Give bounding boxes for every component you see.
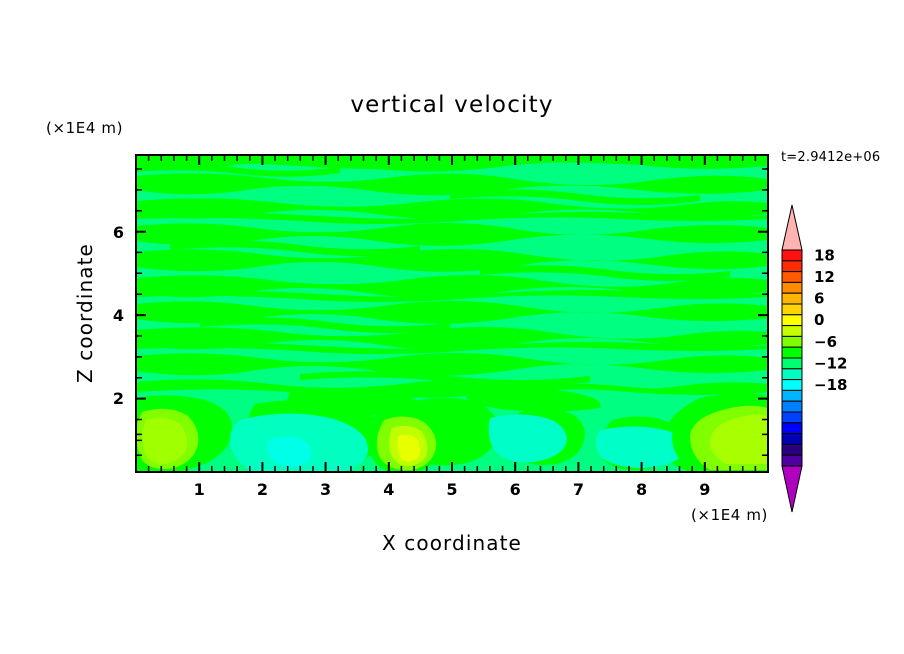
colorbar-band <box>782 401 802 412</box>
colorbar-tick-label: 6 <box>814 290 824 308</box>
colorbar-tick-label: 0 <box>814 311 824 329</box>
contour-field <box>130 155 768 474</box>
colorbar-band <box>782 261 802 272</box>
colorbar-band <box>782 250 802 261</box>
colorbar-tick-label: −6 <box>814 333 837 351</box>
x-tick-label: 9 <box>699 480 710 499</box>
warm-core-center <box>366 409 442 474</box>
colorbar-band <box>782 390 802 401</box>
colorbar-band <box>782 336 802 347</box>
x-tick-label: 8 <box>636 480 647 499</box>
x-tick-label: 2 <box>257 480 268 499</box>
figure-title: vertical velocity <box>350 92 553 118</box>
colorbar-tick-label: 18 <box>814 246 835 264</box>
time-annotation: t=2.9412e+06 <box>781 150 880 165</box>
colorbar-band <box>782 347 802 358</box>
colorbar-band <box>782 315 802 326</box>
x-tick-label: 1 <box>194 480 205 499</box>
colorbar-bands <box>782 250 802 466</box>
x-axis-title: X coordinate <box>382 531 522 555</box>
x-axis-unit-label: (×1E4 m) <box>691 506 768 524</box>
x-tick-label: 5 <box>446 480 457 499</box>
colorbar-band <box>782 369 802 380</box>
colorbar-band <box>782 444 802 455</box>
colorbar-band <box>782 423 802 434</box>
vertical-velocity-contour-figure: vertical velocity (×1E4 m) <box>0 0 904 654</box>
colorbar-band <box>782 434 802 445</box>
colorbar-band <box>782 455 802 466</box>
colorbar-band <box>782 358 802 369</box>
colorbar-tick-label: −12 <box>814 354 847 372</box>
warm-plume-left <box>130 401 211 474</box>
colorbar-band <box>782 326 802 337</box>
x-tick-label: 4 <box>383 480 394 499</box>
x-tick-label: 7 <box>573 480 584 499</box>
colorbar-band <box>782 272 802 283</box>
colorbar-band <box>782 293 802 304</box>
y-axis-unit-label: (×1E4 m) <box>46 119 123 137</box>
y-tick-label: 6 <box>113 223 124 242</box>
y-tick-label: 4 <box>113 306 124 325</box>
y-axis-title: Z coordinate <box>73 243 97 383</box>
colorbar-tick-label: 12 <box>814 268 835 286</box>
x-tick-label: 3 <box>320 480 331 499</box>
y-tick-label: 2 <box>113 389 124 408</box>
colorbar-tick-label: −18 <box>814 376 847 394</box>
colorbar-band <box>782 304 802 315</box>
colorbar-band <box>782 380 802 391</box>
x-tick-label: 6 <box>510 480 521 499</box>
colorbar-band <box>782 282 802 293</box>
colorbar-band <box>782 412 802 423</box>
